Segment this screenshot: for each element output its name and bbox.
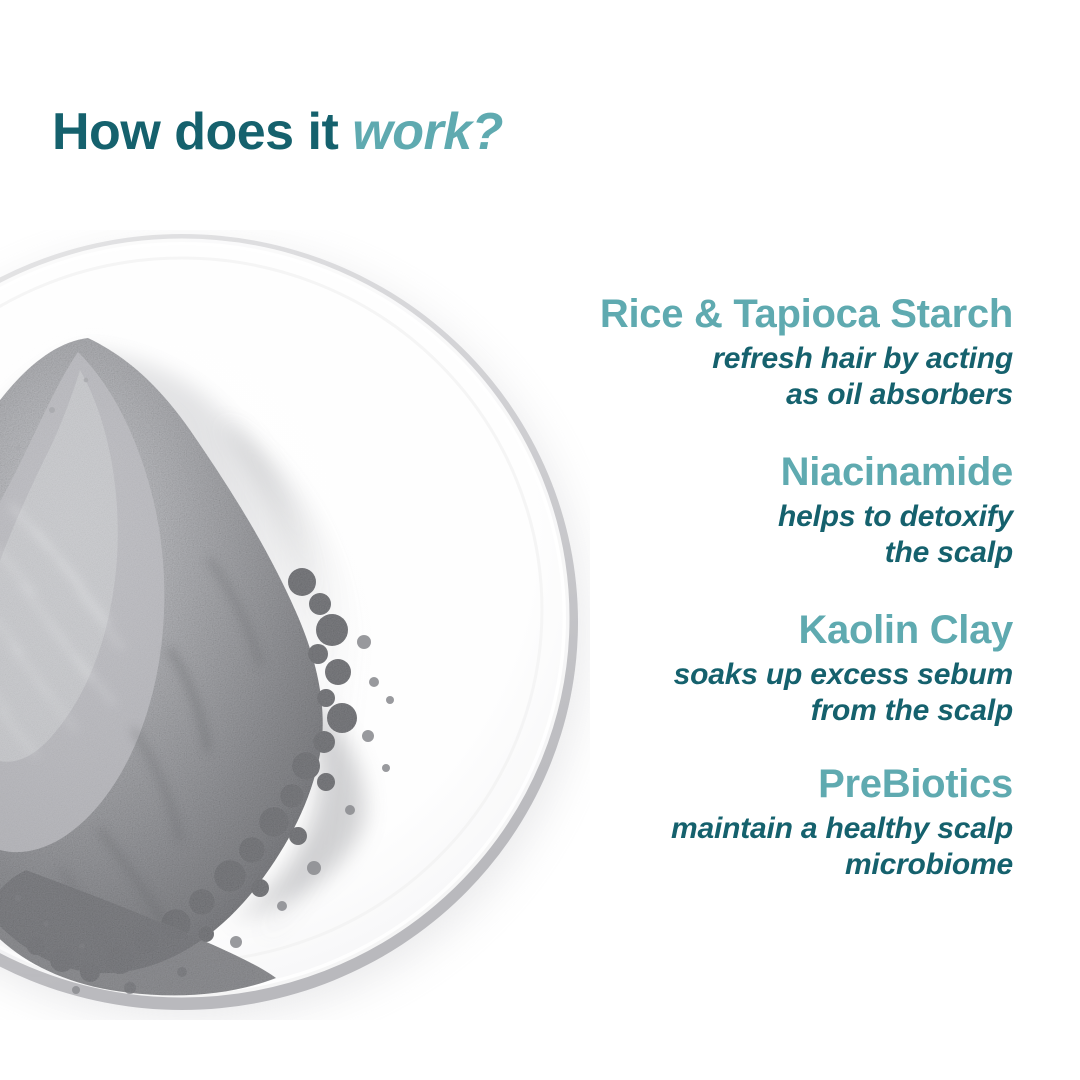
ingredient-description-line: the scalp xyxy=(513,535,1013,572)
ingredient-description-line: as oil absorbers xyxy=(513,377,1013,414)
ingredient-name: PreBiotics xyxy=(513,762,1013,807)
product-benefits-graphic: How does it work? xyxy=(0,0,1080,1080)
ingredient-description-line: microbiome xyxy=(513,847,1013,884)
ingredient-description: soaks up excess sebum from the scalp xyxy=(513,657,1013,730)
ingredient-item: PreBiotics maintain a healthy scalp micr… xyxy=(513,762,1013,884)
ingredient-description: helps to detoxify the scalp xyxy=(513,499,1013,572)
ingredient-item: Kaolin Clay soaks up excess sebum from t… xyxy=(513,608,1013,730)
ingredient-name: Rice & Tapioca Starch xyxy=(513,292,1013,337)
ingredient-name: Kaolin Clay xyxy=(513,608,1013,653)
page-title-accent: work? xyxy=(352,103,503,161)
ingredient-name: Niacinamide xyxy=(513,450,1013,495)
ingredient-description-line: maintain a healthy scalp xyxy=(513,811,1013,848)
ingredient-description-line: refresh hair by acting xyxy=(513,341,1013,378)
page-title: How does it work? xyxy=(52,103,503,163)
ingredient-description-line: helps to detoxify xyxy=(513,499,1013,536)
ingredient-item: Niacinamide helps to detoxify the scalp xyxy=(513,450,1013,572)
ingredient-description: maintain a healthy scalp microbiome xyxy=(513,811,1013,884)
ingredient-item: Rice & Tapioca Starch refresh hair by ac… xyxy=(513,292,1013,414)
ingredient-description-line: from the scalp xyxy=(513,693,1013,730)
powder-dish-image xyxy=(0,230,590,1020)
ingredient-list: Rice & Tapioca Starch refresh hair by ac… xyxy=(513,292,1013,884)
ingredient-description-line: soaks up excess sebum xyxy=(513,657,1013,694)
ingredient-description: refresh hair by acting as oil absorbers xyxy=(513,341,1013,414)
page-title-lead: How does it xyxy=(52,103,352,161)
